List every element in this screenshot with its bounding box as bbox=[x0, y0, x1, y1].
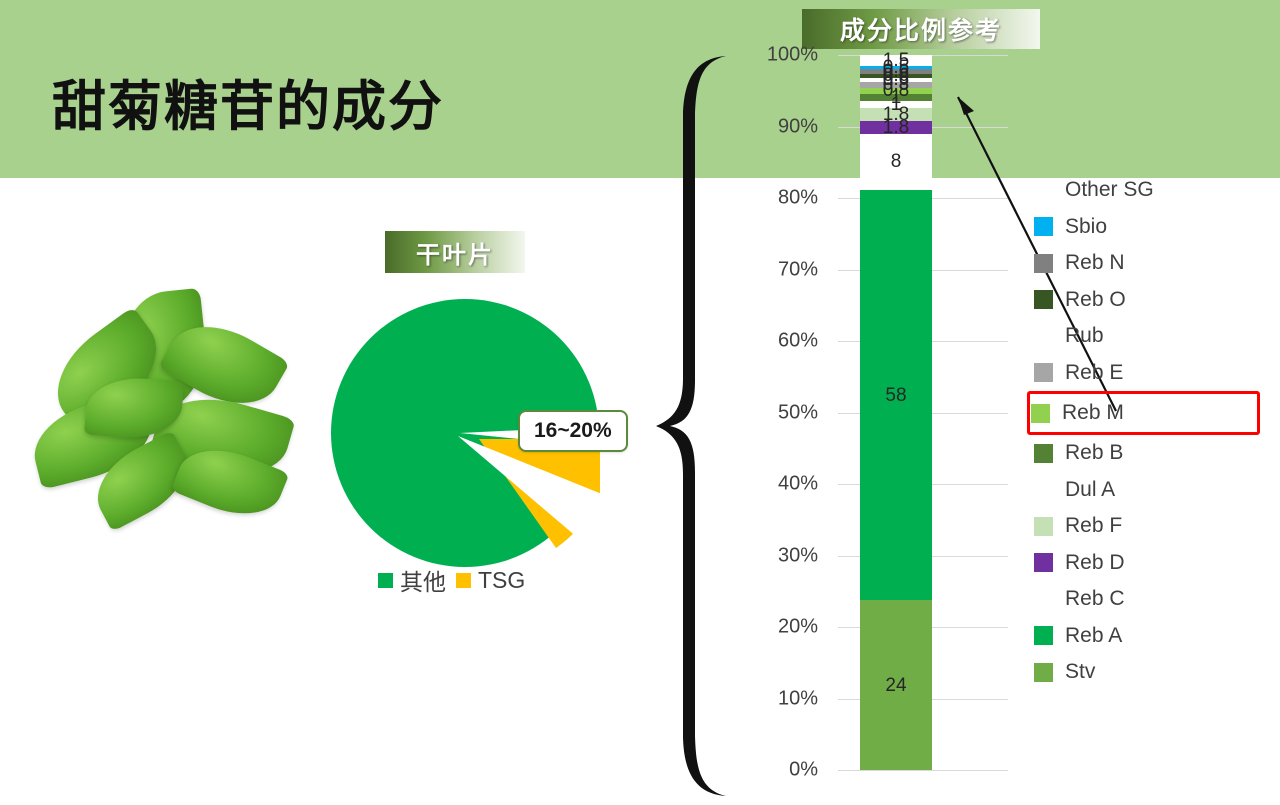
legend-label: Reb O bbox=[1065, 288, 1126, 312]
curly-brace bbox=[648, 50, 748, 800]
legend-swatch-stv bbox=[1034, 663, 1053, 682]
legend-item-reb-f[interactable]: Reb F bbox=[1030, 508, 1260, 545]
legend-label: Sbio bbox=[1065, 215, 1107, 239]
legend-swatch-rub bbox=[1034, 327, 1053, 346]
legend-swatch-other-sg bbox=[1034, 181, 1053, 200]
legend-item-reb-c[interactable]: Reb C bbox=[1030, 581, 1260, 618]
legend-item-stv[interactable]: Stv bbox=[1030, 654, 1260, 691]
legend-swatch-reb-o bbox=[1034, 290, 1053, 309]
legend-item-rub[interactable]: Rub bbox=[1030, 318, 1260, 355]
legend-item-reb-b[interactable]: Reb B bbox=[1030, 435, 1260, 472]
page-title: 甜菊糖苷的成分 bbox=[52, 78, 444, 137]
legend-swatch-reb-e bbox=[1034, 363, 1053, 382]
bar-segment-reb-a[interactable]: 58 bbox=[860, 190, 932, 600]
stevia-leaf-image bbox=[28, 300, 368, 550]
y-axis-tick-80: 80% bbox=[778, 187, 818, 210]
pie-legend-swatch-other bbox=[378, 573, 393, 588]
y-axis-tick-0: 0% bbox=[789, 759, 818, 782]
pie-legend-swatch-tsg bbox=[456, 573, 471, 588]
legend-item-reb-a[interactable]: Reb A bbox=[1030, 618, 1260, 655]
bar-segment-label: 1.8 bbox=[883, 118, 909, 137]
y-axis-tick-60: 60% bbox=[778, 330, 818, 353]
legend-swatch-reb-n bbox=[1034, 254, 1053, 273]
legend-swatch-reb-c bbox=[1034, 590, 1053, 609]
legend-label: Rub bbox=[1065, 324, 1104, 348]
y-axis-tick-40: 40% bbox=[778, 473, 818, 496]
y-axis-tick-30: 30% bbox=[778, 544, 818, 567]
pie-legend: 其他 TSG bbox=[378, 563, 578, 597]
pie-ribbon-label: 干叶片 bbox=[416, 235, 494, 270]
legend-label: Other SG bbox=[1065, 178, 1154, 202]
legend-label: Reb B bbox=[1065, 441, 1123, 465]
y-axis-tick-90: 90% bbox=[778, 115, 818, 138]
legend-swatch-reb-d bbox=[1034, 553, 1053, 572]
legend-label: Stv bbox=[1065, 660, 1095, 684]
legend-item-dul-a[interactable]: Dul A bbox=[1030, 472, 1260, 509]
pie-legend-item-tsg: TSG bbox=[456, 567, 525, 594]
y-axis-tick-10: 10% bbox=[778, 687, 818, 710]
pie-legend-label-tsg: TSG bbox=[478, 567, 525, 594]
legend-label: Reb M bbox=[1062, 401, 1124, 425]
legend-item-reb-o[interactable]: Reb O bbox=[1030, 282, 1260, 319]
y-axis-tick-100: 100% bbox=[767, 44, 818, 67]
slide-root: 甜菊糖苷的成分 干叶片 16~20% 其他 TSG bbox=[0, 0, 1280, 800]
gridline bbox=[838, 770, 1008, 771]
legend-swatch-reb-m bbox=[1031, 404, 1050, 423]
curly-brace-svg bbox=[648, 50, 748, 800]
legend-swatch-dul-a bbox=[1034, 480, 1053, 499]
legend-label: Reb E bbox=[1065, 361, 1123, 385]
pie-legend-label-other: 其他 bbox=[400, 563, 446, 597]
legend-label: Reb D bbox=[1065, 551, 1125, 575]
legend-item-reb-e[interactable]: Reb E bbox=[1030, 355, 1260, 392]
legend-swatch-reb-f bbox=[1034, 517, 1053, 536]
curly-brace-path bbox=[656, 56, 726, 796]
legend-label: Reb F bbox=[1065, 514, 1122, 538]
legend-item-other-sg[interactable]: Other SG bbox=[1030, 172, 1260, 209]
y-axis-labels: 0%10%20%30%40%50%60%70%80%90%100% bbox=[760, 55, 818, 780]
bar-segment-label: 24 bbox=[885, 676, 906, 695]
y-axis-tick-70: 70% bbox=[778, 258, 818, 281]
legend-swatch-reb-b bbox=[1034, 444, 1053, 463]
pie-chart-ribbon-title: 干叶片 bbox=[385, 231, 525, 273]
bar-segment-label: 8 bbox=[891, 152, 902, 171]
stacked-bar[interactable]: 1.50.50.60.60.60.80.8111.81.885824 bbox=[860, 55, 932, 770]
legend-item-sbio[interactable]: Sbio bbox=[1030, 209, 1260, 246]
y-axis-tick-50: 50% bbox=[778, 401, 818, 424]
bar-segment-reb-c[interactable]: 8 bbox=[860, 134, 932, 191]
bar-ribbon-label: 成分比例参考 bbox=[840, 11, 1002, 47]
legend-label: Reb C bbox=[1065, 587, 1125, 611]
bar-segment-label: 58 bbox=[885, 386, 906, 405]
bar-segment-stv[interactable]: 24 bbox=[860, 600, 932, 770]
bar-chart-legend: Other SGSbioReb NReb ORubReb EReb MReb B… bbox=[1030, 172, 1260, 691]
bar-segment-reb-d[interactable]: 1.8 bbox=[860, 121, 932, 134]
legend-item-reb-n[interactable]: Reb N bbox=[1030, 245, 1260, 282]
legend-label: Dul A bbox=[1065, 478, 1115, 502]
legend-swatch-reb-a bbox=[1034, 626, 1053, 645]
legend-label: Reb A bbox=[1065, 624, 1122, 648]
y-axis-tick-20: 20% bbox=[778, 616, 818, 639]
pie-value-callout: 16~20% bbox=[518, 410, 628, 452]
legend-label: Reb N bbox=[1065, 251, 1125, 275]
pie-legend-item-other: 其他 bbox=[378, 563, 446, 597]
bar-chart-ribbon-title: 成分比例参考 bbox=[802, 9, 1040, 49]
legend-swatch-sbio bbox=[1034, 217, 1053, 236]
legend-item-reb-d[interactable]: Reb D bbox=[1030, 545, 1260, 582]
legend-item-reb-m[interactable]: Reb M bbox=[1027, 391, 1260, 435]
